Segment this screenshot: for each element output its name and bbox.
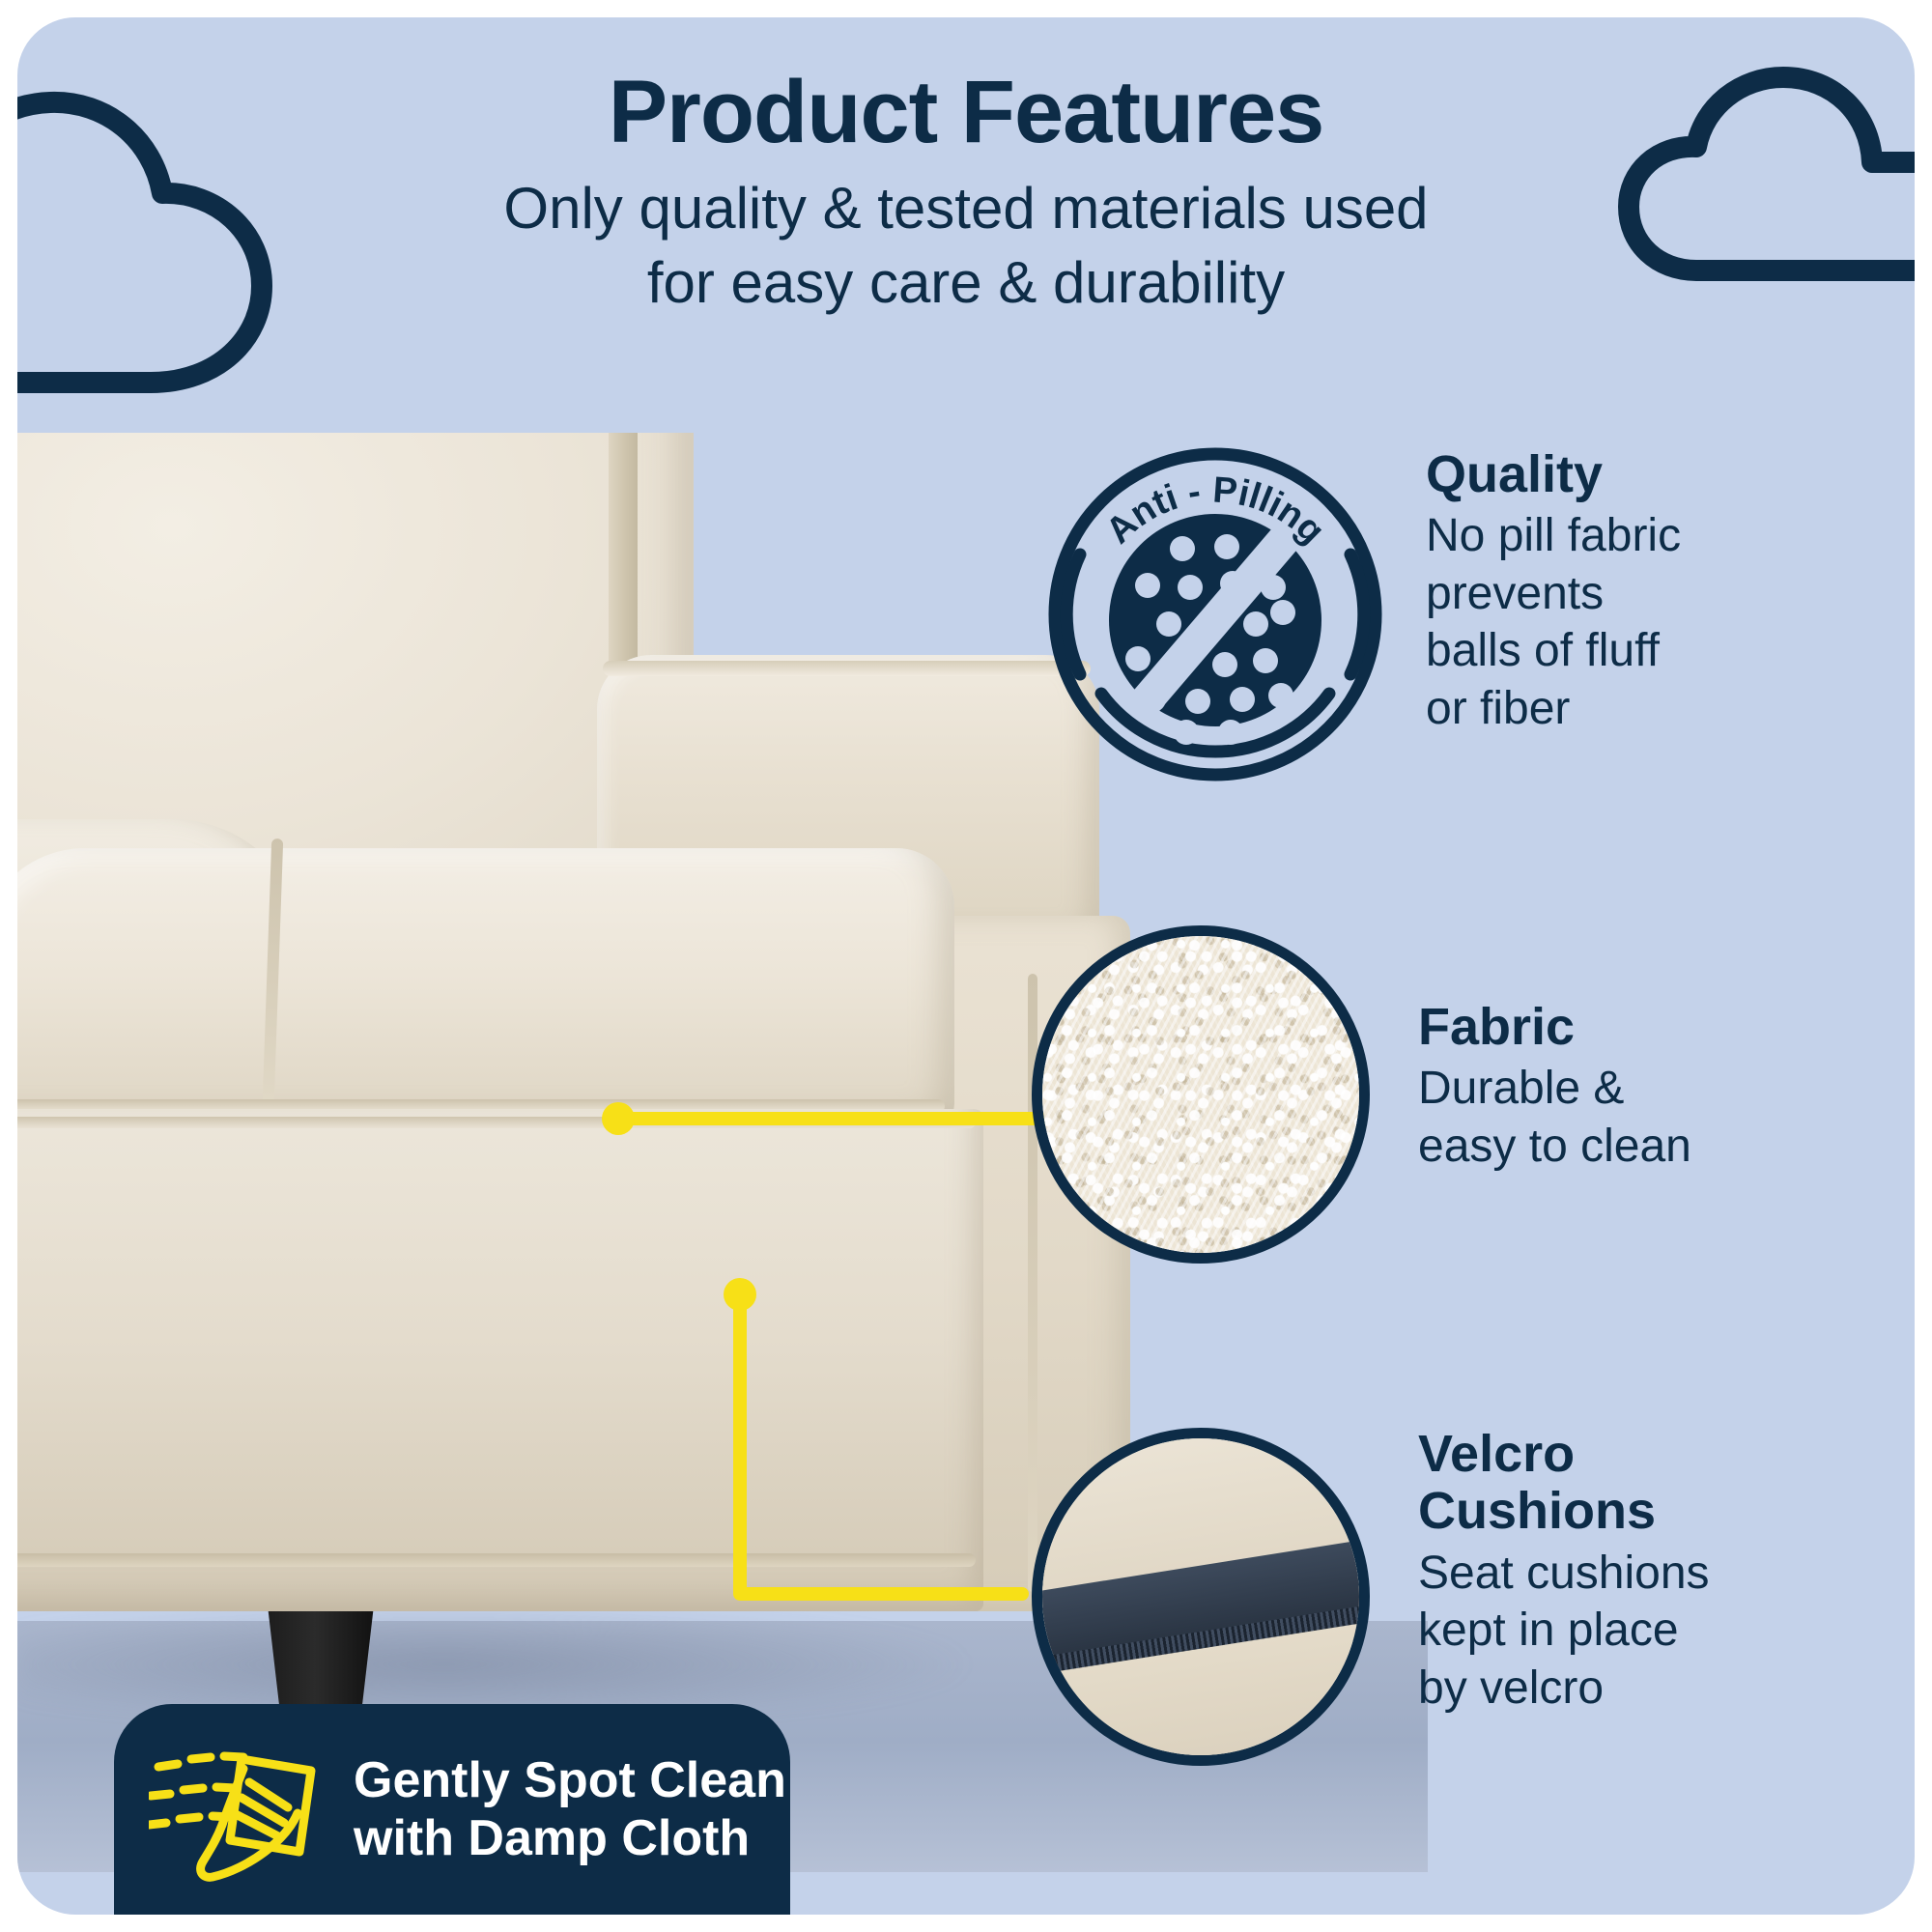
care-line-2: with Damp Cloth: [354, 1810, 750, 1866]
quality-body-line-2: prevents: [1426, 568, 1604, 619]
quality-body-line-1: No pill fabric: [1426, 510, 1681, 561]
hand-wiping-cloth-icon: [149, 1732, 332, 1887]
seat-cushion-right: [17, 848, 954, 1128]
velcro-title-line-2: Cushions: [1418, 1482, 1656, 1540]
feature-velcro-title: Velcro Cushions: [1418, 1426, 1710, 1541]
infographic-root: Product Features Only quality & tested m…: [0, 0, 1932, 1932]
care-line-1: Gently Spot Clean: [354, 1752, 786, 1808]
subtitle-line-1: Only quality & tested materials used: [503, 176, 1428, 241]
armrest-seam: [603, 661, 1091, 676]
feature-velcro-body: Seat cushions kept in place by velcro: [1418, 1545, 1710, 1718]
velcro-circle-spacer: [1041, 1408, 1379, 1418]
feature-fabric-body: Durable & easy to clean: [1418, 1060, 1691, 1175]
sofa-base-bottom-seam: [17, 1553, 976, 1567]
fabric-body-line-2: easy to clean: [1418, 1121, 1691, 1172]
care-instruction-text: Gently Spot Clean with Damp Cloth: [354, 1751, 786, 1868]
velcro-body-line-2: kept in place: [1418, 1605, 1679, 1656]
feature-fabric-text: Fabric Durable & easy to clean: [1418, 916, 1691, 1175]
feature-fabric: Fabric Durable & easy to clean: [1041, 916, 1691, 1175]
page-subtitle: Only quality & tested materials used for…: [17, 172, 1915, 321]
feature-velcro-text: Velcro Cushions Seat cushions kept in pl…: [1418, 1408, 1710, 1717]
fabric-circle-spacer: [1041, 916, 1379, 925]
anti-pilling-badge-icon: Anti - Pilling: [1041, 440, 1389, 788]
velcro-body-line-1: Seat cushions: [1418, 1548, 1710, 1599]
header-block: Product Features Only quality & tested m…: [17, 68, 1915, 320]
sofa-base: [17, 1109, 983, 1611]
feature-velcro: Velcro Cushions Seat cushions kept in pl…: [1041, 1408, 1710, 1717]
velcro-body-line-3: by velcro: [1418, 1662, 1604, 1714]
feature-quality-text: Quality No pill fabric prevents balls of…: [1426, 440, 1681, 737]
care-instruction-badge: Gently Spot Clean with Damp Cloth: [114, 1704, 790, 1915]
feature-quality-body: No pill fabric prevents balls of fluff o…: [1426, 507, 1681, 737]
fabric-body-line-1: Durable &: [1418, 1063, 1624, 1114]
subtitle-line-2: for easy care & durability: [647, 250, 1285, 315]
feature-fabric-title: Fabric: [1418, 999, 1691, 1056]
quality-body-line-3: balls of fluff: [1426, 625, 1660, 676]
page-title: Product Features: [17, 68, 1915, 158]
quality-body-line-4: or fiber: [1426, 683, 1570, 734]
sofa-base-top-seam: [17, 1117, 976, 1128]
main-panel: Product Features Only quality & tested m…: [17, 17, 1915, 1915]
feature-quality: Anti - Pilling: [1041, 440, 1681, 788]
feature-quality-title: Quality: [1426, 446, 1681, 503]
velcro-title-line-1: Velcro: [1418, 1425, 1575, 1483]
